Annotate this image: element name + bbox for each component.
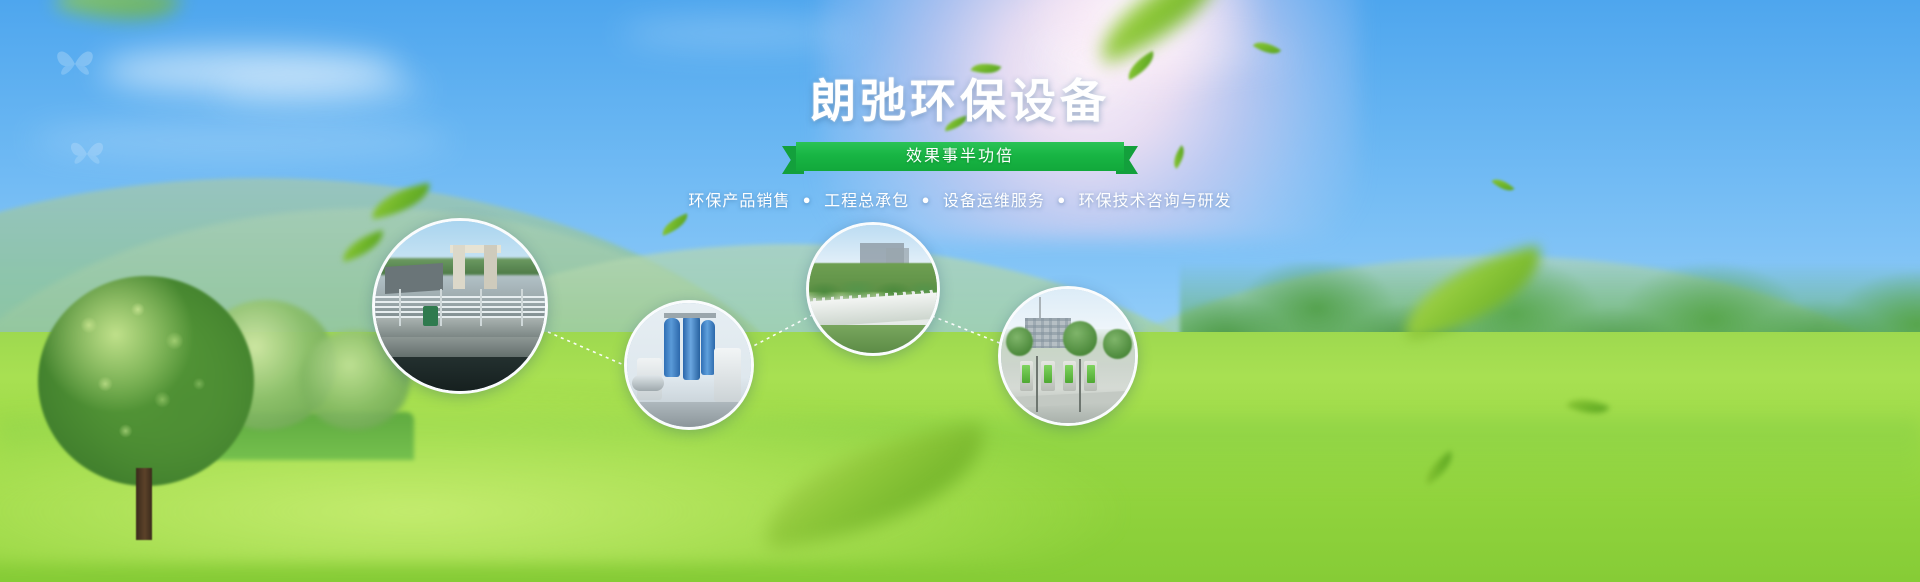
separator-dot: ●	[803, 192, 812, 207]
photo-elevated-walkway-park	[809, 225, 937, 353]
photo-sewage-treatment-plant	[375, 221, 545, 391]
photo-circle-control-equipment-yard[interactable]	[998, 286, 1138, 426]
photo-control-equipment-yard	[1001, 289, 1135, 423]
banner-title: 朗弛环保设备	[0, 78, 1920, 124]
banner-text-block: 朗弛环保设备 效果事半功倍 环保产品销售 ● 工程总承包 ● 设备运维服务 ● …	[0, 0, 1920, 211]
separator-dot: ●	[1057, 192, 1066, 207]
foreground-tree	[38, 276, 254, 536]
services-line: 环保产品销售 ● 工程总承包 ● 设备运维服务 ● 环保技术咨询与研发	[0, 187, 1920, 211]
photo-circle-water-treatment-machinery[interactable]	[624, 300, 754, 430]
service-item-4: 环保技术咨询与研发	[1079, 193, 1232, 210]
photo-circle-sewage-treatment-plant[interactable]	[372, 218, 548, 394]
service-item-2: 工程总承包	[824, 193, 909, 210]
photo-circle-elevated-walkway-park[interactable]	[806, 222, 940, 356]
slogan-ribbon: 效果事半功倍	[782, 142, 1138, 172]
tree-trunk	[136, 468, 152, 540]
photo-water-treatment-machinery	[627, 303, 751, 427]
tree-foliage-texture	[44, 282, 248, 478]
service-item-1: 环保产品销售	[688, 193, 790, 210]
separator-dot: ●	[922, 192, 931, 207]
slogan-text: 效果事半功倍	[796, 142, 1124, 171]
hero-banner: 朗弛环保设备 效果事半功倍 环保产品销售 ● 工程总承包 ● 设备运维服务 ● …	[0, 0, 1920, 582]
service-item-3: 设备运维服务	[943, 193, 1045, 210]
